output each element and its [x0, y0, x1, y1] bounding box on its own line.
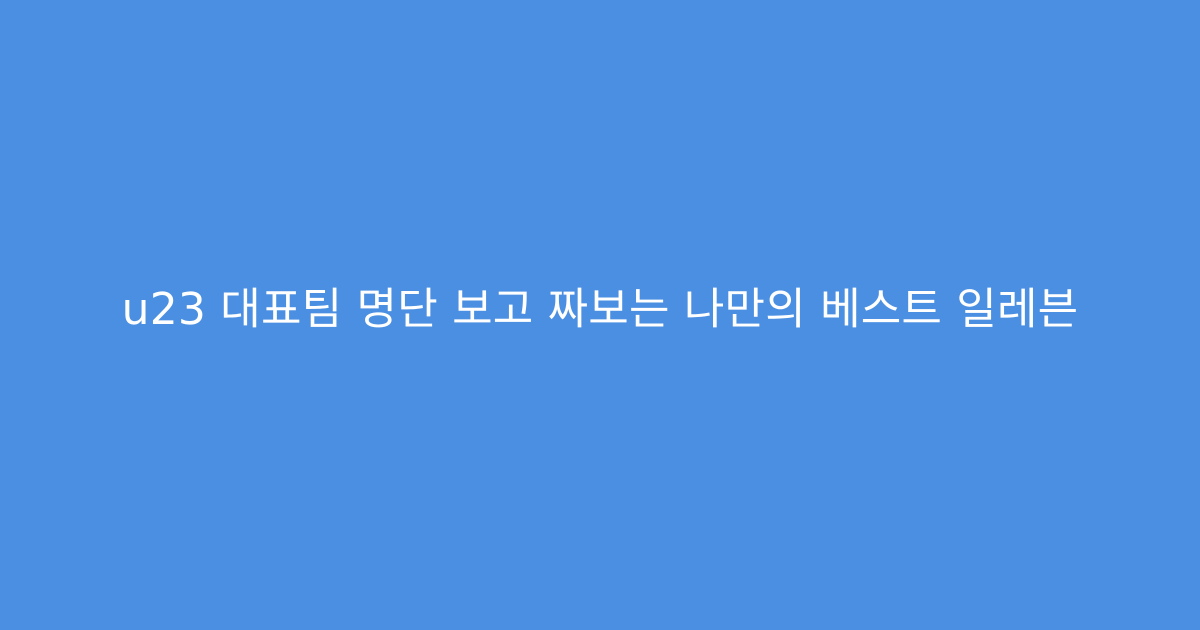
title-block: u23 대표팀 명단 보고 짜보는 나만의 베스트 일레븐 [120, 279, 1080, 341]
og-share-card: u23 대표팀 명단 보고 짜보는 나만의 베스트 일레븐 [0, 0, 1200, 630]
page-title: u23 대표팀 명단 보고 짜보는 나만의 베스트 일레븐 [120, 279, 1080, 341]
